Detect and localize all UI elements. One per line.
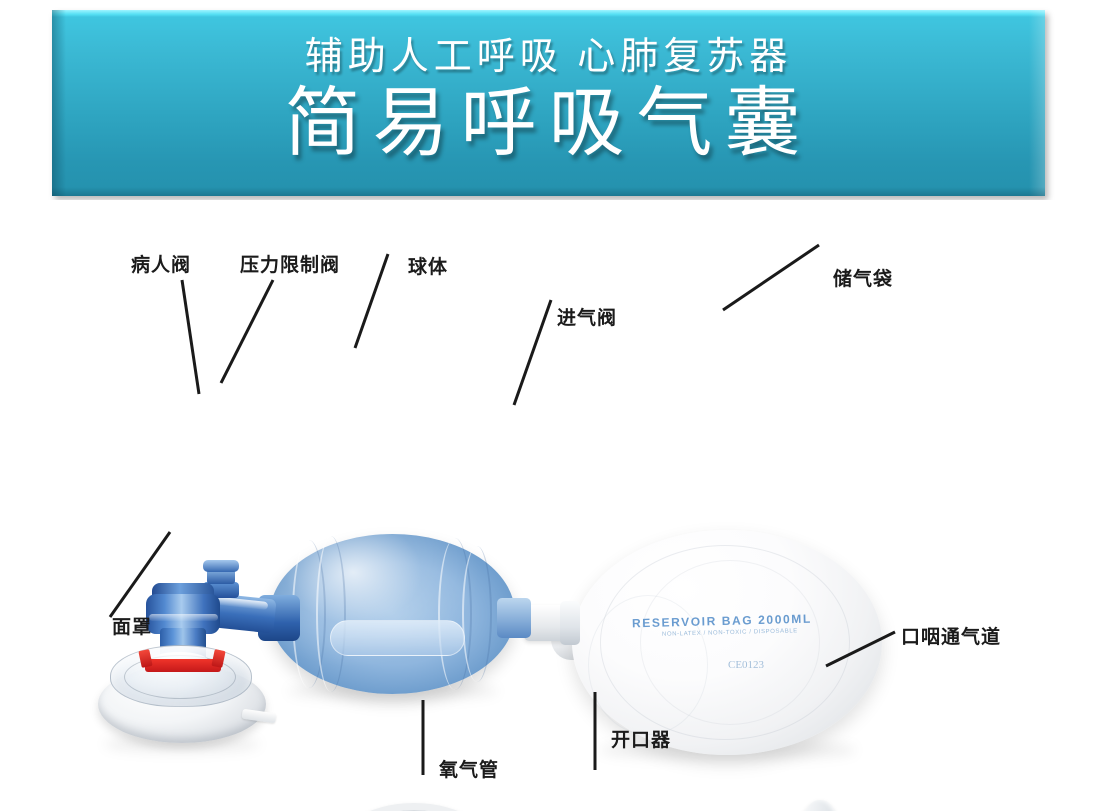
leader-face-mask (110, 532, 170, 617)
leader-oropharyngeal-airway (826, 632, 895, 666)
label-patient-valve: 病人阀 (131, 250, 191, 277)
label-mouth-opener: 开口器 (611, 725, 671, 752)
label-bag-body: 球体 (408, 252, 448, 279)
leader-pressure-valve (221, 280, 273, 383)
label-oxygen-tube: 氧气管 (439, 755, 499, 782)
leader-patient-valve (182, 280, 199, 394)
leader-bag-body (355, 254, 388, 348)
leader-intake-valve (514, 300, 551, 405)
banner-text-block: 辅助人工呼吸 心肺复苏器 简易呼吸气囊 (52, 10, 1045, 196)
header-banner: 辅助人工呼吸 心肺复苏器 简易呼吸气囊 (52, 10, 1045, 196)
label-face-mask: 面罩 (112, 612, 152, 639)
label-pressure-limiting-valve: 压力限制阀 (240, 250, 340, 277)
banner-subtitle: 辅助人工呼吸 心肺复苏器 (305, 38, 793, 76)
label-reservoir-bag: 储气袋 (833, 264, 893, 291)
product-photo-area: RESERVOIR BAG 2000ML NON-LATEX / NON-TOX… (0, 200, 1096, 811)
banner-title: 简易呼吸气囊 (285, 82, 813, 167)
leader-lines (0, 200, 1096, 811)
label-oropharyngeal-airway: 口咽通气道 (901, 622, 1001, 649)
poster-page: 辅助人工呼吸 心肺复苏器 简易呼吸气囊 RESERVOIR BAG 2000ML… (0, 0, 1096, 811)
label-intake-valve: 进气阀 (557, 303, 617, 330)
leader-reservoir (723, 245, 819, 310)
